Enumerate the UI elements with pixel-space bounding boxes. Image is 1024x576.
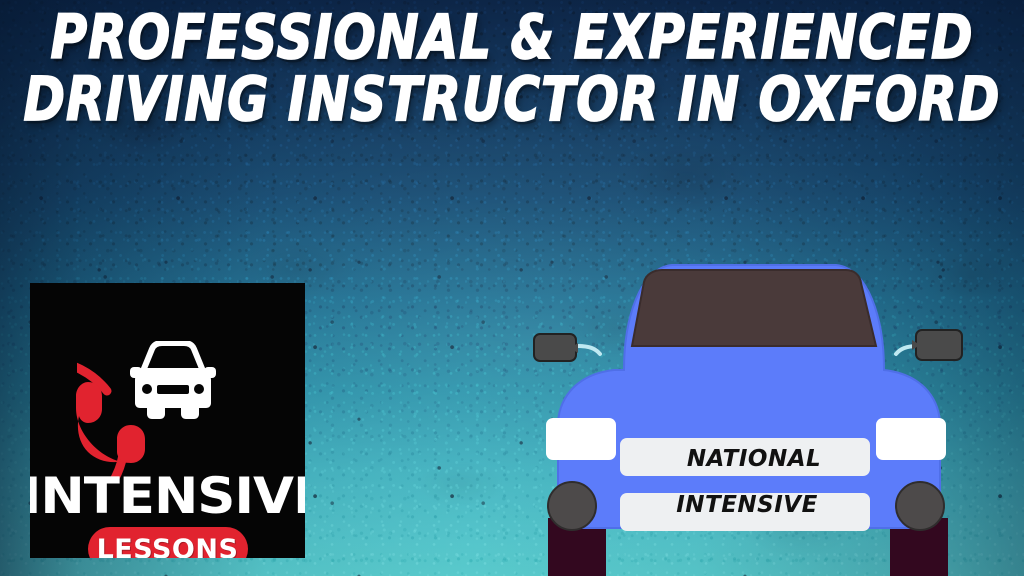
fog-lamp-left (548, 482, 596, 530)
car-windshield (632, 270, 876, 346)
logo-wordmark: INTENSIVE (30, 471, 305, 521)
fog-lamp-right (896, 482, 944, 530)
plate-bottom-label: INTENSIVE (622, 494, 872, 517)
side-mirror-right (912, 330, 962, 360)
logo-lessons-badge-label: LESSONS (97, 536, 239, 559)
brand-logo-card: INTENSIVE LESSONS (30, 283, 305, 558)
side-mirror-left (534, 334, 578, 361)
promo-banner: PROFESSIONAL & EXPERIENCED DRIVING INSTR… (0, 0, 1024, 576)
car-illustration (520, 250, 980, 576)
headlight-right (876, 418, 946, 460)
headlight-left (546, 418, 616, 460)
telephone-handset-icon (74, 377, 160, 463)
logo-lessons-badge: LESSONS (88, 527, 248, 558)
plate-top-label: NATIONAL (629, 448, 879, 471)
brand-logo-emblem: INTENSIVE LESSONS (30, 283, 305, 558)
